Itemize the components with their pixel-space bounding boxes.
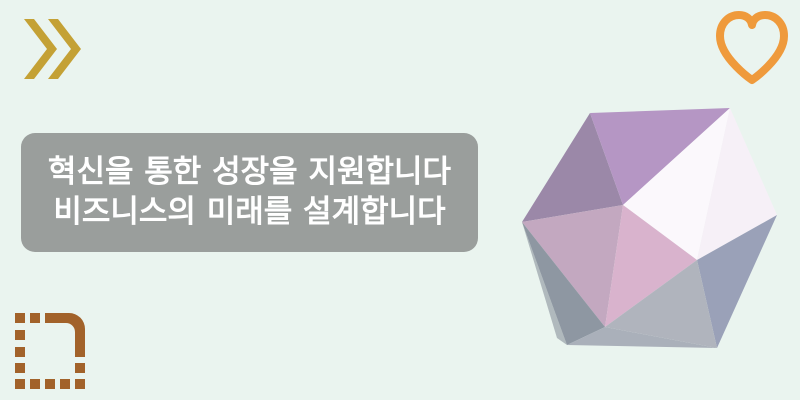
headline-line-1: 혁신을 통한 성장을 지원합니다 [48, 153, 451, 193]
headline-banner: 혁신을 통한 성장을 지원합니다 비즈니스의 미래를 설계합니다 [21, 133, 478, 252]
frame-dash-top-1 [15, 313, 25, 323]
banner-canvas: 혁신을 통한 성장을 지원합니다 비즈니스의 미래를 설계합니다 [0, 0, 800, 400]
frame-dash-left-1 [15, 330, 25, 340]
icosahedron-icon [505, 95, 795, 365]
frame-shapes [15, 313, 85, 389]
frame-dash-right-1 [75, 363, 85, 373]
heart-outline-icon [712, 8, 792, 88]
chevron-first [24, 19, 57, 79]
frame-solid-corner [45, 313, 85, 357]
frame-dash-bottom-5 [75, 379, 85, 389]
icosahedron-facets [522, 108, 777, 348]
frame-dash-bottom-4 [60, 379, 70, 389]
frame-dash-left-3 [15, 363, 25, 373]
headline-line-2: 비즈니스의 미래를 설계합니다 [53, 193, 445, 233]
heart-path [720, 15, 784, 80]
double-chevron-right-icon [24, 17, 84, 81]
frame-dash-top-2 [30, 313, 40, 323]
dashed-corner-frame-icon [12, 310, 88, 390]
chevron-shapes [24, 19, 81, 79]
frame-dash-bottom-1 [15, 379, 25, 389]
frame-dash-bottom-3 [45, 379, 55, 389]
frame-dash-bottom-2 [30, 379, 40, 389]
frame-dash-left-2 [15, 347, 25, 357]
